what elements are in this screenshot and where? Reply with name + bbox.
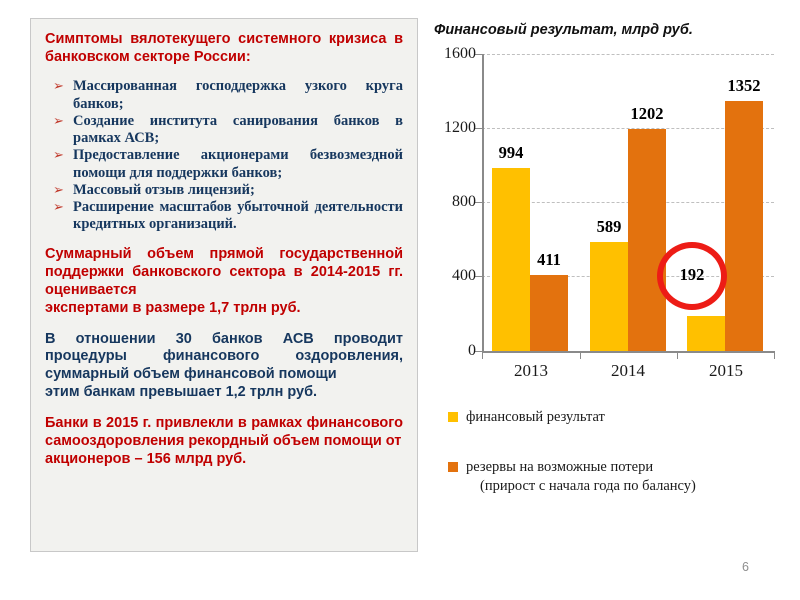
y-tick-label: 1600 [424,45,476,63]
list-item-label: Массовый отзыв лицензий; [73,182,403,199]
legend-item-finansovyy-rezultat: финансовый результат [446,408,794,428]
list-item-label: Создание института санирования банков в … [73,113,403,148]
y-tickmark [475,202,482,203]
arrow-bullet-icon: ➢ [53,115,64,128]
list-item-label: Расширение масштабов убыточной деятельно… [73,199,403,234]
legend-swatch-icon [448,412,458,422]
bar-rezervy-2014 [628,129,666,351]
arrow-bullet-icon: ➢ [53,184,64,197]
y-tickmark [475,128,482,129]
list-item: ➢ Создание института санирования банков … [45,113,403,148]
x-tickmark [482,351,483,359]
paragraph-last-line: акционеров – 156 млрд руб. [45,451,403,469]
x-tick-label: 2013 [506,361,556,381]
paragraph-body: В отношении 30 банков АСВ проводит проце… [45,331,403,383]
plot-area: 1600 1200 800 400 0 994 411 589 1202 135… [424,46,794,396]
bar-value-label: 411 [524,250,574,270]
bar-finansovyy-rezultat-2014 [590,242,628,351]
bar-finansovyy-rezultat-2015 [687,316,725,351]
paragraph-asv-procedures: В отношении 30 банков АСВ проводит проце… [45,331,403,403]
legend-label: резервы на возможные потери [466,458,794,478]
y-tickmark [475,351,482,352]
paragraph-last-line: этим банкам превышает 1,2 трлн руб. [45,384,403,402]
content-panel: Симптомы вялотекущего системного кризиса… [30,18,418,552]
list-item: ➢ Массированная господдержка узкого круг… [45,78,403,113]
panel-heading: Симптомы вялотекущего системного кризиса… [45,31,403,66]
arrow-bullet-icon: ➢ [53,80,64,93]
y-tick-label: 0 [424,342,476,360]
list-item: ➢ Расширение масштабов убыточной деятель… [45,199,403,234]
legend-item-rezervy: резервы на возможные потери (прирост с н… [446,458,794,497]
chart-legend: финансовый результат резервы на возможны… [446,408,794,497]
list-item: ➢ Массовый отзыв лицензий; [45,182,403,199]
list-item: ➢ Предоставление акционерами безвозмездн… [45,147,403,182]
y-axis-labels: 1600 1200 800 400 0 [424,46,476,366]
bar-value-label: 589 [584,217,634,237]
x-tickmark [580,351,581,359]
paragraph-shareholder-aid: Банки в 2015 г. привлекли в рамках финан… [45,415,403,469]
x-tick-label: 2014 [603,361,653,381]
y-axis-line [482,54,484,352]
legend-label-line-2: (прирост с начала года по балансу) [466,477,794,497]
bar-value-label: 1352 [714,76,774,96]
y-tick-label: 1200 [424,119,476,137]
y-tickmark [475,54,482,55]
list-item-label: Предоставление акционерами безвозмездной… [73,147,403,182]
list-item-label: Массированная господдержка узкого круга … [73,78,403,113]
panel-heading-line-1: Симптомы вялотекущего системного [45,31,321,47]
chart: Финансовый результат, млрд руб. 1600 120… [424,22,794,562]
legend-swatch-icon [448,462,458,472]
y-tick-label: 800 [424,193,476,211]
x-axis-line [482,351,775,353]
y-tick-label: 400 [424,267,476,285]
chart-title: Финансовый результат, млрд руб. [434,22,794,38]
bar-value-label: 994 [486,143,536,163]
paragraph-last-line: экспертами в размере 1,7 трлн руб. [45,300,403,318]
x-tick-label: 2015 [701,361,751,381]
bar-value-label: 1202 [617,104,677,124]
paragraph-state-support: Суммарный объем прямой государственной п… [45,246,403,318]
bar-value-label-highlighted: 192 [667,265,717,285]
page-number: 6 [742,560,749,574]
paragraph-body: Банки в 2015 г. привлекли в рамках финан… [45,415,403,449]
gridline [482,54,774,55]
bar-rezervy-2015 [725,101,763,351]
symptom-list: ➢ Массированная господдержка узкого круг… [45,78,403,233]
arrow-bullet-icon: ➢ [53,149,64,162]
y-tickmark [475,276,482,277]
x-tickmark [677,351,678,359]
bar-rezervy-2013 [530,275,568,351]
legend-label: финансовый результат [466,408,794,428]
paragraph-body: Суммарный объем прямой государственной п… [45,246,403,298]
arrow-bullet-icon: ➢ [53,201,64,214]
x-tickmark [774,351,775,359]
